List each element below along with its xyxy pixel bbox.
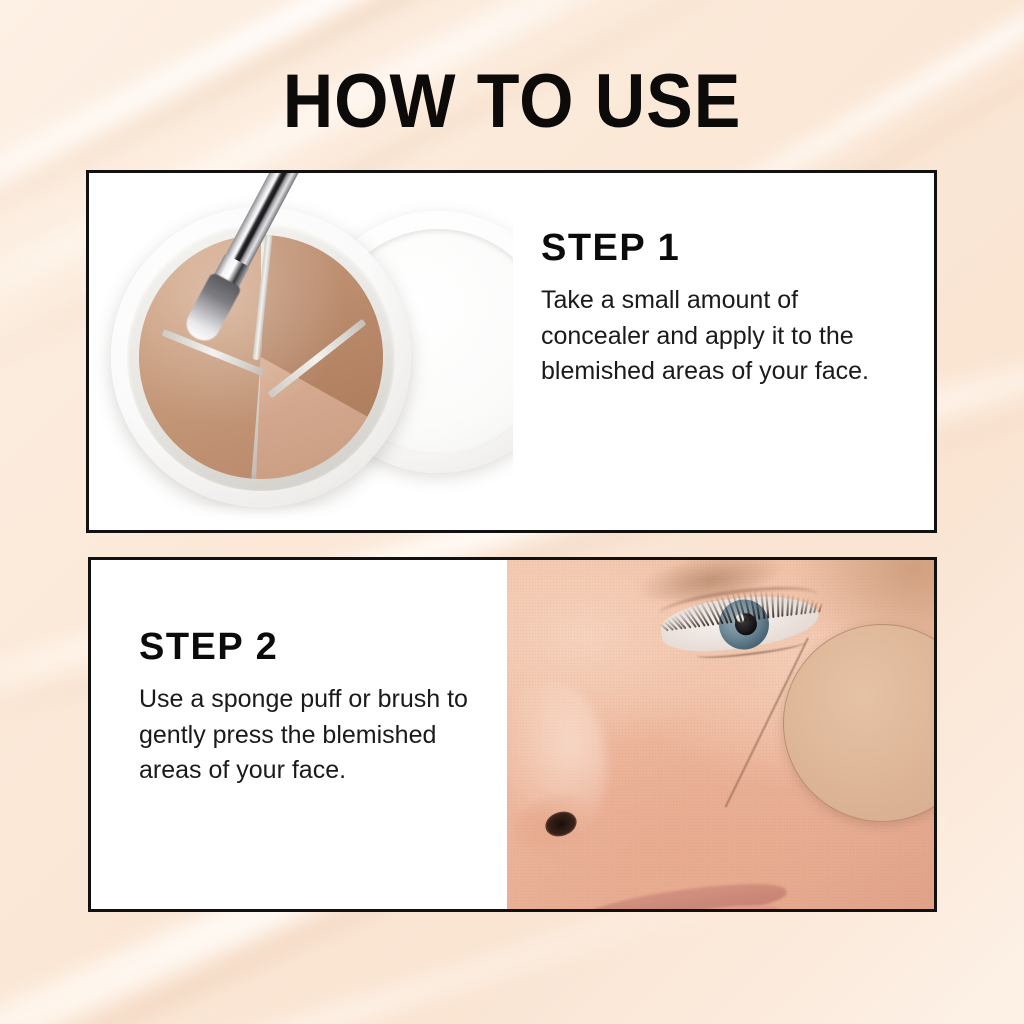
- step-card-1: STEP 1 Take a small amount of concealer …: [86, 170, 937, 533]
- eyelash: [795, 596, 799, 615]
- face-application-image: [507, 560, 934, 909]
- eyelash: [786, 594, 789, 616]
- eyelash: [776, 592, 778, 617]
- step-1-body: Take a small amount of concealer and app…: [541, 283, 891, 390]
- eyelash: [765, 591, 769, 618]
- step-2-text-block: STEP 2 Use a sponge puff or brush to gen…: [91, 560, 507, 909]
- image-floor-fade: [89, 504, 513, 530]
- step-2-heading: STEP 2: [139, 628, 481, 666]
- eyelash: [771, 592, 774, 618]
- page-title: HOW TO USE: [41, 64, 983, 140]
- eyelash: [791, 595, 795, 616]
- eyelash: [760, 591, 765, 619]
- eyelash: [818, 602, 823, 612]
- step-1-text-block: STEP 1 Take a small amount of concealer …: [513, 173, 934, 530]
- eyelash: [781, 593, 783, 617]
- step-1-heading: STEP 1: [541, 229, 900, 267]
- step-2-body: Use a sponge puff or brush to gently pre…: [139, 682, 479, 789]
- concealer-palette-image: [89, 173, 513, 530]
- step-card-2: STEP 2 Use a sponge puff or brush to gen…: [88, 557, 937, 912]
